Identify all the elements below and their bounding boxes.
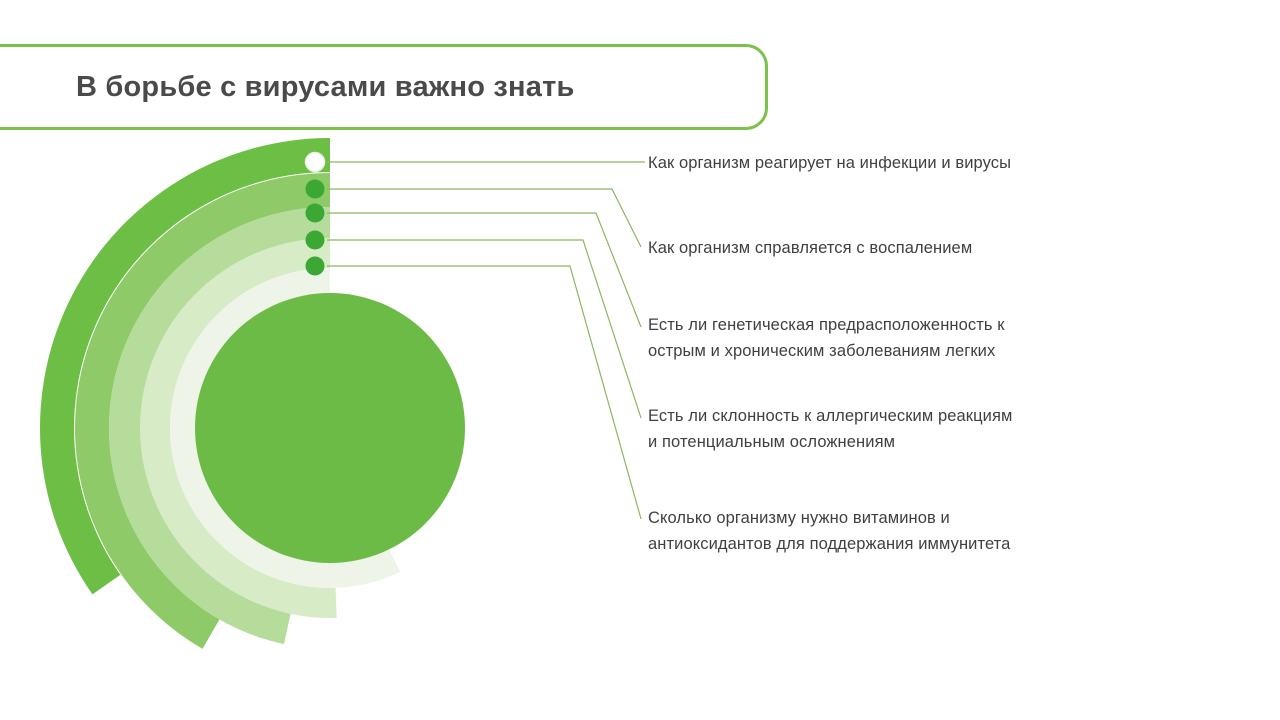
arc-ring [40, 138, 330, 594]
connector-line [327, 189, 641, 247]
hub-circle [195, 293, 465, 563]
arc-ring [140, 238, 337, 618]
slide-title-bar: В борьбе с вирусами важно знать [0, 44, 768, 130]
node-dot [306, 153, 325, 172]
node-dot [306, 231, 325, 250]
connector-line [327, 213, 641, 327]
arc-ring [170, 268, 400, 588]
list-item-label: Есть ли склонность к аллергическим реакц… [648, 403, 1143, 455]
node-dot [306, 204, 325, 223]
arc-ring [109, 207, 330, 644]
arc-rings-group [40, 138, 400, 649]
list-item-label: Есть ли генетическая предрасположенность… [648, 312, 1138, 364]
connector-line [327, 266, 641, 519]
node-dot [306, 180, 325, 199]
node-dots-group [306, 153, 325, 276]
list-item-label: Сколько организму нужно витаминов и анти… [648, 505, 1148, 557]
list-item-label: Как организм справляется с воспалением [648, 235, 1148, 261]
connector-line [327, 240, 641, 418]
node-dot [306, 257, 325, 276]
hub-circle-group [195, 293, 465, 563]
list-item-label: Как организм реагирует на инфекции и вир… [648, 150, 1148, 176]
arc-ring [75, 173, 330, 649]
connector-lines-group [327, 162, 645, 519]
page-title: В борьбе с вирусами важно знать [76, 71, 575, 104]
